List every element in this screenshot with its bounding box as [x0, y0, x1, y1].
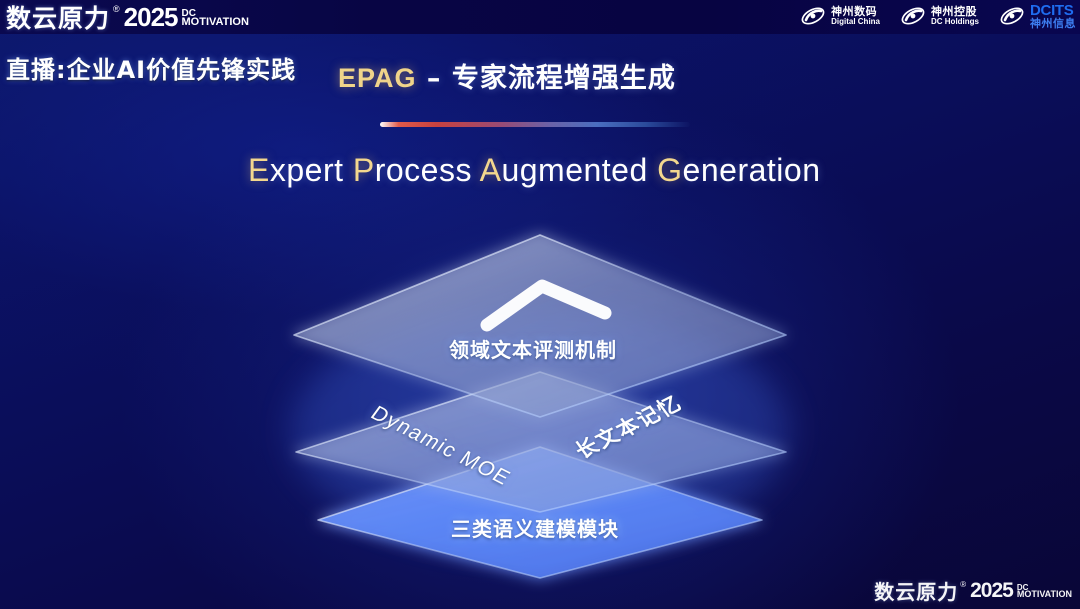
partner-name-cn: 神州控股	[931, 6, 979, 17]
footer-watermark: 数云原力®2025 DC MOTIVATION	[874, 576, 1072, 605]
swirl-icon	[999, 5, 1025, 27]
layer-middle-label-right: 长文本记忆	[568, 388, 688, 465]
watermark-registered: ®	[960, 580, 966, 589]
live-broadcast-title: 直播:企业AI价值先锋实践	[6, 50, 296, 85]
layer-top-label: 领域文本评测机制	[449, 334, 617, 363]
partner-name-cn: 神州信息	[1030, 18, 1076, 29]
partner-logo-dc-holdings: 神州控股 DC Holdings	[900, 5, 979, 27]
swirl-icon	[800, 5, 826, 27]
slide-canvas: 数云原力®2025 DC MOTIVATION 直播:企业AI价值先锋实践 神州…	[0, 0, 1080, 609]
brand-logo-cn: 数云原力	[6, 0, 110, 35]
layer-bottom-label: 三类语义建模模块	[451, 513, 619, 542]
partner-logo-text: DCITS 神州信息	[1030, 3, 1076, 29]
page-title: EPAG – 专家流程增强生成	[338, 56, 676, 95]
gradient-divider	[380, 122, 690, 127]
brand-logo-registered: ®	[113, 4, 120, 14]
brand-logo-year: 2025	[124, 2, 178, 33]
english-cap-p: P	[353, 152, 375, 188]
brand-logo: 数云原力®2025 DC MOTIVATION	[6, 2, 249, 32]
swirl-icon	[900, 5, 926, 27]
english-cap-g: G	[657, 152, 682, 188]
partner-name-en: DC Holdings	[931, 18, 979, 26]
page-title-separator: –	[417, 63, 452, 94]
partner-logo-text: 神州控股 DC Holdings	[931, 6, 979, 26]
partner-logo-group: 神州数码 Digital China 神州控股 DC Holdings	[800, 3, 1076, 29]
watermark-cn: 数云原力	[874, 576, 958, 605]
brand-logo-motivation: MOTIVATION	[182, 17, 249, 28]
page-title-chinese: 专家流程增强生成	[452, 63, 676, 94]
partner-logo-text: 神州数码 Digital China	[831, 6, 880, 26]
layer-top	[294, 235, 786, 417]
partner-logo-dcits: DCITS 神州信息	[999, 3, 1076, 29]
english-rest-xpert: xpert	[270, 152, 344, 188]
layer-middle-label-left: Dynamic MOE	[366, 402, 516, 491]
partner-name-en: DCITS	[1030, 3, 1076, 18]
partner-name-cn: 神州数码	[831, 6, 880, 17]
partner-logo-digital-china: 神州数码 Digital China	[800, 5, 880, 27]
layer-middle	[296, 372, 786, 512]
watermark-motivation: MOTIVATION	[1017, 590, 1072, 599]
english-rest-rocess: rocess	[375, 152, 472, 188]
english-rest-eneration: eneration	[683, 152, 821, 188]
watermark-year: 2025	[970, 579, 1013, 603]
watermark-dc-motivation: DC MOTIVATION	[1017, 584, 1072, 599]
partner-name-en: Digital China	[831, 18, 880, 26]
english-cap-a: A	[480, 152, 502, 188]
brand-logo-dc-motivation: DC MOTIVATION	[182, 9, 249, 28]
page-title-acronym: EPAG	[338, 63, 417, 93]
chevron-up-icon	[487, 286, 605, 325]
english-subtitle: Expert Process Augmented Generation	[248, 152, 820, 189]
english-cap-e: E	[248, 152, 270, 188]
english-rest-ugmented: ugmented	[501, 152, 647, 188]
